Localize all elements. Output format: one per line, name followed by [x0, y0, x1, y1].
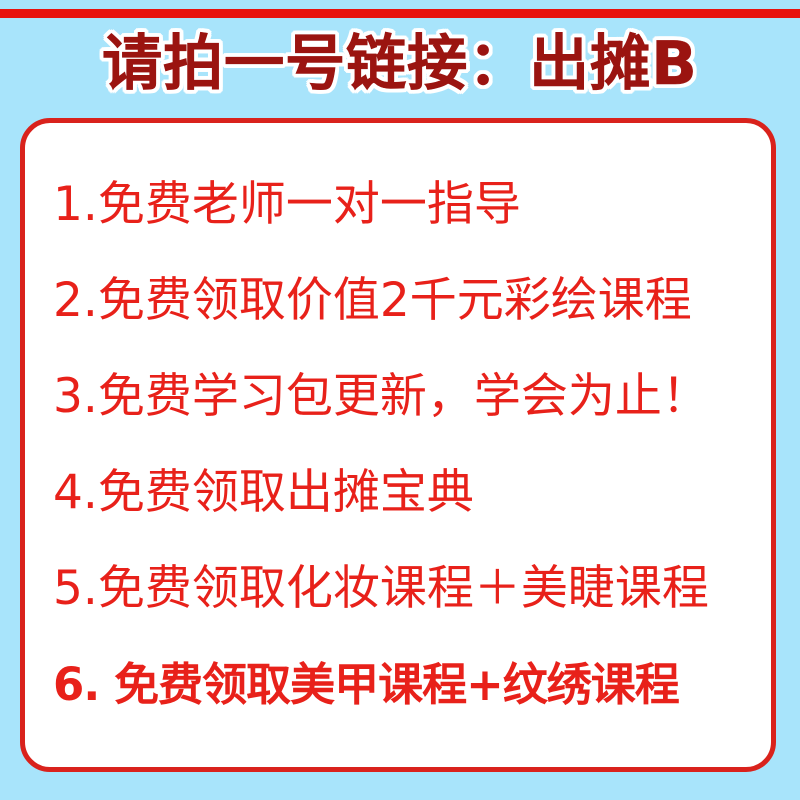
- list-item: 3.免费学习包更新，学会为止！: [53, 349, 753, 445]
- list-item: 1.免费老师一对一指导: [53, 157, 753, 253]
- list-item: 6. 免费领取美甲课程+纹绣课程: [53, 637, 753, 733]
- offer-list: 1.免费老师一对一指导 2.免费领取价值2千元彩绘课程 3.免费学习包更新，学会…: [53, 157, 753, 733]
- top-red-rule: [0, 9, 800, 18]
- list-item: 2.免费领取价值2千元彩绘课程: [53, 253, 753, 349]
- headline-banner: 请拍一号链接：出摊B: [0, 22, 800, 106]
- list-item: 4.免费领取出摊宝典: [53, 445, 753, 541]
- offer-card: 1.免费老师一对一指导 2.免费领取价值2千元彩绘课程 3.免费学习包更新，学会…: [20, 118, 776, 772]
- promo-poster: 请拍一号链接：出摊B 1.免费老师一对一指导 2.免费领取价值2千元彩绘课程 3…: [0, 0, 800, 800]
- list-item: 5.免费领取化妆课程＋美睫课程: [53, 541, 753, 637]
- headline-text: 请拍一号链接：出摊B: [102, 34, 698, 94]
